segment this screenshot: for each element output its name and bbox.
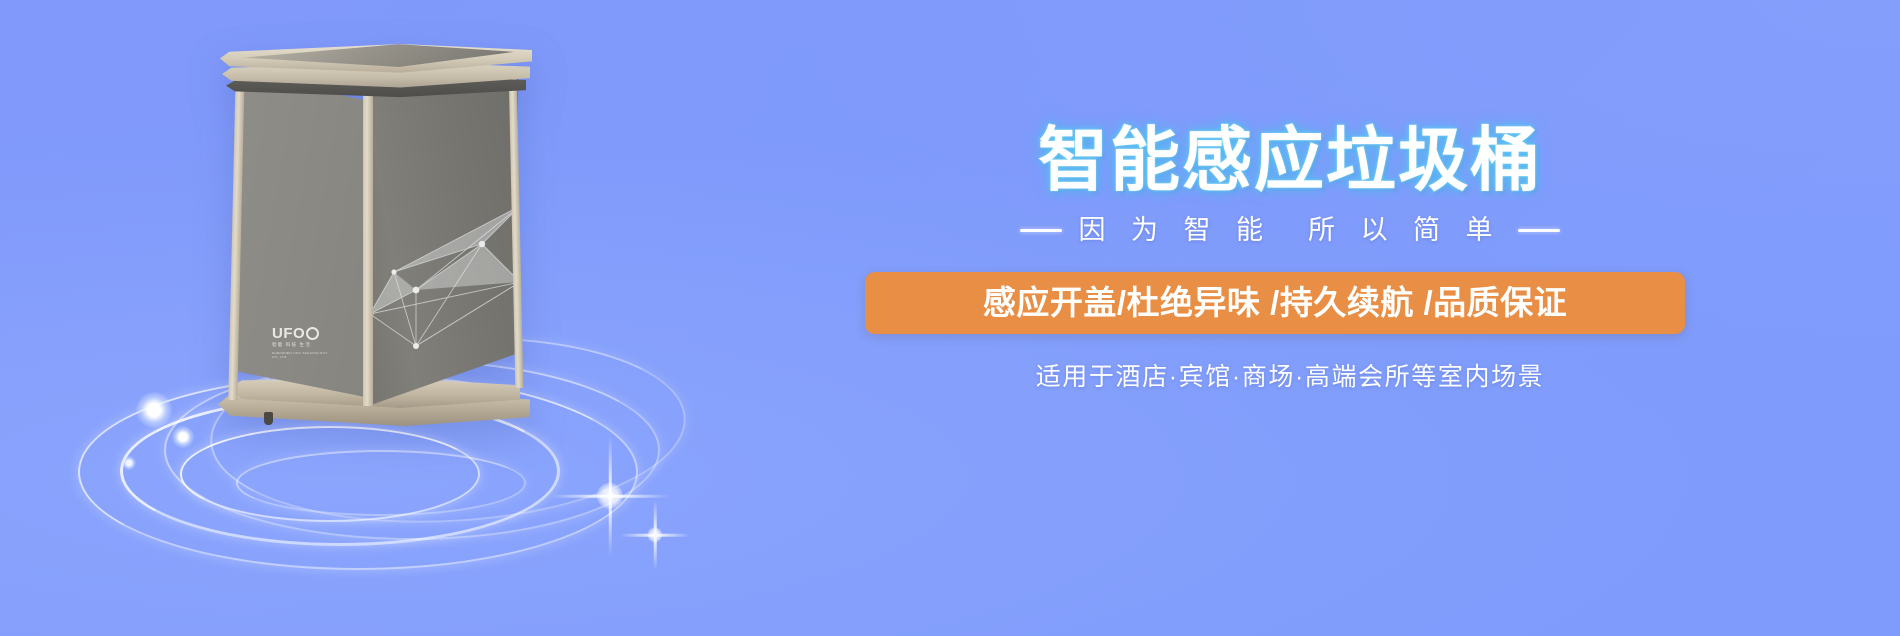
tagline-rule-right (1518, 229, 1560, 232)
product-stage: UFO 智能 科技 生活 SHENZHEN UFO TECHNOLOGY CO.… (60, 30, 760, 620)
brand-tagline-en: SHENZHEN UFO TECHNOLOGY CO.,LTD (272, 351, 338, 359)
features-badge-text: 感应开盖/杜绝异味 /持久续航 /品质保证 (983, 283, 1567, 323)
tagline-rule-left (1020, 229, 1062, 232)
page-title: 智能感应垃圾桶 (880, 120, 1700, 200)
brand-logo: UFO 智能 科技 生活 SHENZHEN UFO TECHNOLOGY CO.… (272, 326, 338, 370)
sparkle-icon-small (620, 500, 690, 570)
brand-logo-text: UFO (272, 326, 305, 341)
sparkle-core (647, 527, 662, 542)
scenarios-text: 适用于酒店·宾馆·商场·高端会所等室内场景 (880, 360, 1700, 394)
trash-bin-product-image: UFO 智能 科技 生活 SHENZHEN UFO TECHNOLOGY CO.… (220, 40, 530, 460)
product-promo-banner: UFO 智能 科技 生活 SHENZHEN UFO TECHNOLOGY CO.… (0, 0, 1900, 636)
sensor-window (264, 412, 273, 425)
tagline-row: 因 为 智 能 所 以 简 单 (880, 213, 1700, 247)
glow-dot-medium (172, 426, 194, 448)
brand-tagline-cn: 智能 科技 生活 (272, 342, 338, 348)
tagline-text: 因 为 智 能 所 以 简 单 (1078, 213, 1501, 247)
polygon-network-graphic (368, 186, 518, 376)
brand-logo-ring-icon (306, 327, 319, 340)
bin-corner-pillar-center (363, 70, 373, 406)
marketing-copy-block: 智能感应垃圾桶 因 为 智 能 所 以 简 单 感应开盖/杜绝异味 /持久续航 … (880, 0, 1840, 636)
brand-logo-wordmark: UFO (272, 326, 338, 341)
features-badge: 感应开盖/杜绝异味 /持久续航 /品质保证 (865, 272, 1685, 334)
glow-dot-large (136, 392, 172, 428)
glow-dot-small (122, 456, 136, 470)
bin-front-right-glass-panel (368, 76, 518, 406)
